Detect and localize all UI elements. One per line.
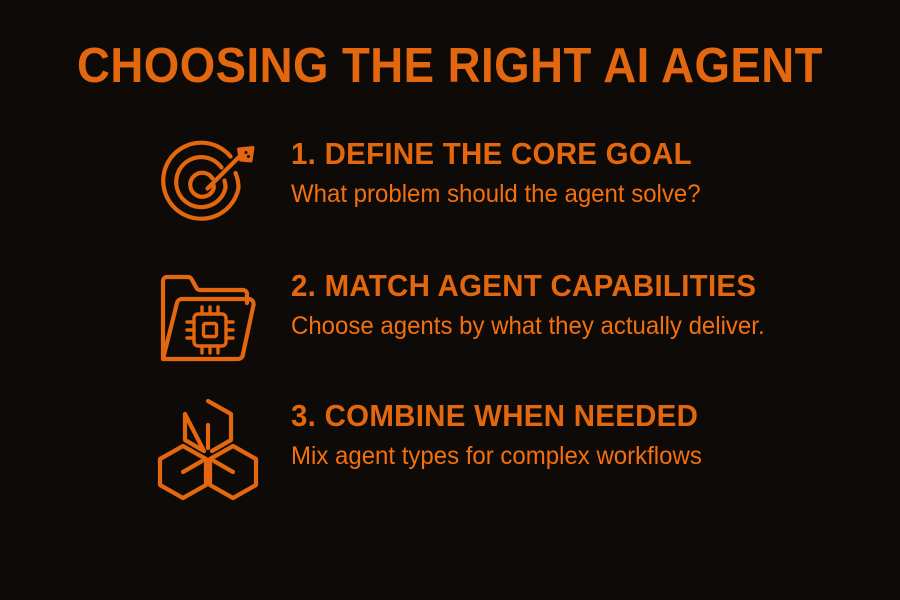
step-text: 1. DEFINE THE CORE GOAL What problem sho… [291,136,880,210]
list-item: 2. MATCH AGENT CAPABILITIES Choose agent… [0,256,900,384]
steps-list: 1. DEFINE THE CORE GOAL What problem sho… [0,124,900,514]
step-subtitle: Choose agents by what they actually deli… [291,310,856,342]
step-text: 3. COMBINE WHEN NEEDED Mix agent types f… [291,398,880,472]
list-item: 3. COMBINE WHEN NEEDED Mix agent types f… [0,386,900,514]
step-subtitle: What problem should the agent solve? [291,178,856,210]
target-arrow-icon [152,130,264,242]
hexagon-cluster-icon [152,392,264,504]
infographic-poster: CHOOSING THE RIGHT AI AGENT [0,0,900,600]
page-title: CHOOSING THE RIGHT AI AGENT [32,38,869,94]
step-heading: 3. COMBINE WHEN NEEDED [291,398,851,434]
step-heading: 2. MATCH AGENT CAPABILITIES [291,268,851,304]
step-heading: 1. DEFINE THE CORE GOAL [291,136,851,172]
folder-chip-icon [152,262,264,374]
step-text: 2. MATCH AGENT CAPABILITIES Choose agent… [291,268,880,342]
step-subtitle: Mix agent types for complex workflows [291,440,856,472]
list-item: 1. DEFINE THE CORE GOAL What problem sho… [0,124,900,254]
